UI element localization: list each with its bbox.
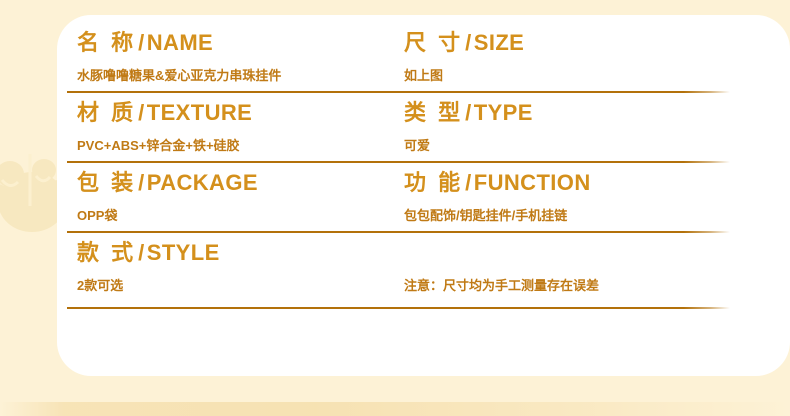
title-separator: /: [136, 100, 147, 125]
spec-cell-texture: 材 质/TEXTURE PVC+ABS+锌合金+铁+硅胶: [77, 93, 407, 163]
spec-title-zh: 尺 寸: [404, 30, 463, 55]
spec-title-size: 尺 寸/SIZE: [404, 29, 524, 57]
spec-title-zh: 包 装: [77, 170, 136, 195]
spec-cell-type: 类 型/TYPE 可爱: [404, 93, 734, 163]
spec-sheet-page: 名 称/NAME 水豚噜噜糖果&爱心亚克力串珠挂件 尺 寸/SIZE 如上图 材…: [0, 0, 790, 416]
spec-cell-size: 尺 寸/SIZE 如上图: [404, 23, 734, 93]
spec-title-type: 类 型/TYPE: [404, 99, 533, 127]
spec-card: 名 称/NAME 水豚噜噜糖果&爱心亚克力串珠挂件 尺 寸/SIZE 如上图 材…: [57, 15, 790, 376]
table-row: 款 式/STYLE 2款可选 注意：尺寸均为手工测量存在误差: [67, 233, 747, 303]
spec-title-texture: 材 质/TEXTURE: [77, 99, 252, 127]
spec-cell-package: 包 装/PACKAGE OPP袋: [77, 163, 407, 233]
spec-title-zh: 材 质: [77, 100, 136, 125]
spec-title-en: PACKAGE: [147, 170, 258, 195]
spec-title-en: FUNCTION: [474, 170, 591, 195]
spec-title-en: TYPE: [474, 100, 533, 125]
spec-value-package: OPP袋: [77, 207, 117, 225]
title-separator: /: [136, 30, 147, 55]
spec-title-function: 功 能/FUNCTION: [404, 169, 591, 197]
spec-table: 名 称/NAME 水豚噜噜糖果&爱心亚克力串珠挂件 尺 寸/SIZE 如上图 材…: [67, 23, 747, 353]
title-separator: /: [136, 170, 147, 195]
spec-title-en: TEXTURE: [147, 100, 252, 125]
spec-title-style: 款 式/STYLE: [77, 239, 220, 267]
spec-value-name: 水豚噜噜糖果&爱心亚克力串珠挂件: [77, 67, 281, 85]
spec-title-zh: 功 能: [404, 170, 463, 195]
spec-title-en: STYLE: [147, 240, 220, 265]
spec-value-type: 可爱: [404, 137, 430, 155]
spec-title-zh: 类 型: [404, 100, 463, 125]
spec-cell-function: 功 能/FUNCTION 包包配饰/钥匙挂件/手机挂链: [404, 163, 734, 233]
title-separator: /: [136, 240, 147, 265]
table-row: 包 装/PACKAGE OPP袋 功 能/FUNCTION 包包配饰/钥匙挂件/…: [67, 163, 747, 233]
spec-value-style: 2款可选: [77, 277, 123, 295]
spec-title-en: SIZE: [474, 30, 525, 55]
title-separator: /: [463, 170, 474, 195]
spec-title-name: 名 称/NAME: [77, 29, 213, 57]
spec-value-size: 如上图: [404, 67, 443, 85]
table-row: 名 称/NAME 水豚噜噜糖果&爱心亚克力串珠挂件 尺 寸/SIZE 如上图: [67, 23, 747, 93]
title-separator: /: [463, 100, 474, 125]
spec-title-zh: 名 称: [77, 30, 136, 55]
spec-value-texture: PVC+ABS+锌合金+铁+硅胶: [77, 137, 240, 155]
spec-cell-name: 名 称/NAME 水豚噜噜糖果&爱心亚克力串珠挂件: [77, 23, 407, 93]
spec-title-en: NAME: [147, 30, 213, 55]
row-divider: [67, 307, 730, 309]
table-row: 材 质/TEXTURE PVC+ABS+锌合金+铁+硅胶 类 型/TYPE 可爱: [67, 93, 747, 163]
title-separator: /: [463, 30, 474, 55]
spec-cell-note: 注意：尺寸均为手工测量存在误差: [404, 233, 734, 303]
spec-value-function: 包包配饰/钥匙挂件/手机挂链: [404, 207, 567, 225]
bottom-gradient-band: [0, 402, 790, 416]
spec-cell-style: 款 式/STYLE 2款可选: [77, 233, 407, 303]
spec-title-package: 包 装/PACKAGE: [77, 169, 258, 197]
spec-title-zh: 款 式: [77, 240, 136, 265]
measurement-note: 注意：尺寸均为手工测量存在误差: [404, 277, 599, 295]
